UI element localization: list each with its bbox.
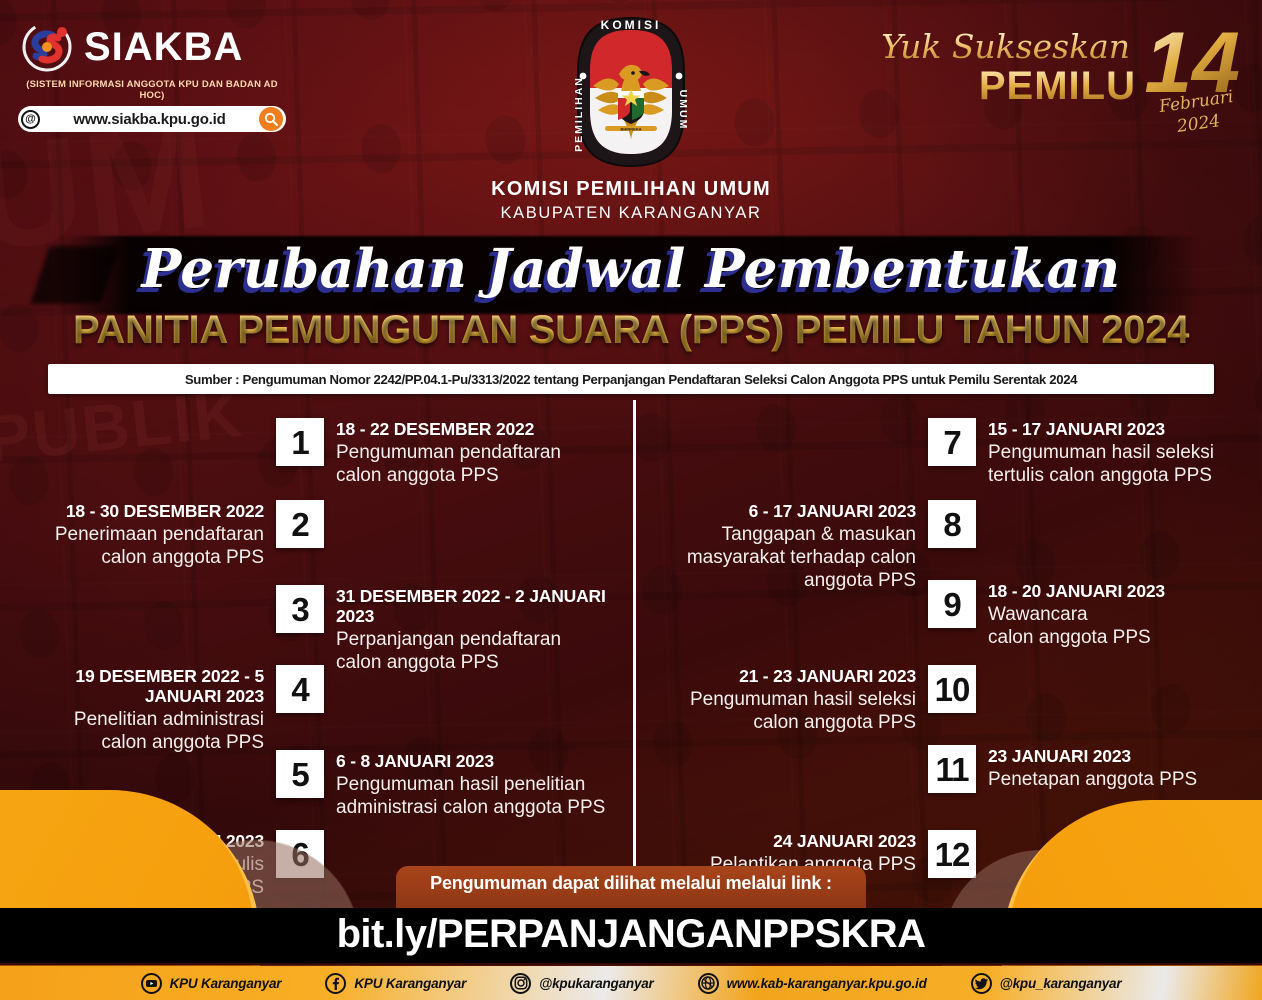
svg-text:BHINNEKA: BHINNEKA bbox=[620, 127, 641, 132]
timeline-item-7: 715 - 17 JANUARI 2023Pengumuman hasil se… bbox=[928, 418, 1214, 487]
timeline-description: Pengumuman hasil seleksicalon anggota PP… bbox=[690, 688, 916, 734]
center-divider bbox=[633, 400, 636, 895]
svg-text:UMUM: UMUM bbox=[677, 90, 689, 131]
timeline-text: 15 - 17 JANUARI 2023Pengumuman hasil sel… bbox=[988, 418, 1214, 487]
facebook-icon bbox=[325, 973, 346, 994]
footer-social-label: KPU Karanganyar bbox=[170, 976, 282, 991]
timeline-date: 23 JANUARI 2023 bbox=[988, 746, 1197, 766]
timeline-description: Penetapan anggota PPS bbox=[988, 768, 1197, 791]
kpu-title: KOMISI PEMILIHAN UMUM bbox=[0, 178, 1262, 201]
timeline-text: 6 - 8 JANUARI 2023Pengumuman hasil penel… bbox=[336, 750, 605, 819]
website-icon bbox=[698, 973, 719, 994]
timeline-number-badge: 4 bbox=[276, 665, 324, 713]
timeline-number-badge: 8 bbox=[928, 500, 976, 548]
timeline-number-badge: 2 bbox=[276, 500, 324, 548]
timeline-description: Perpanjangan pendaftarancalon anggota PP… bbox=[336, 628, 628, 674]
kpu-logo-icon: KOMISI PEMILIHAN UMUM bbox=[568, 14, 694, 172]
footer-social-label: @kpu_karanganyar bbox=[1000, 976, 1122, 991]
footer-social-label: www.kab-karanganyar.kpu.go.id bbox=[727, 976, 927, 991]
timeline-item-9: 918 - 20 JANUARI 2023Wawancaracalon angg… bbox=[928, 580, 1165, 649]
timeline-text: 18 - 20 JANUARI 2023Wawancaracalon anggo… bbox=[988, 580, 1165, 649]
timeline-date: 31 DESEMBER 2022 - 2 JANUARI 2023 bbox=[336, 586, 628, 626]
timeline-item-5: 56 - 8 JANUARI 2023Pengumuman hasil pene… bbox=[276, 750, 605, 819]
pemilu-badge: Yuk Sukseskan PEMILU 14 Februari 2024 bbox=[938, 14, 1248, 139]
timeline-date: 19 DESEMBER 2022 - 5 JANUARI 2023 bbox=[0, 666, 264, 706]
poster-root: UM PUBLIK SIAKBA (SISTEM INFORMASI ANGGO… bbox=[0, 0, 1262, 1000]
footer-social-item[interactable]: @kpu_karanganyar bbox=[971, 973, 1122, 994]
timeline-description: Wawancaracalon anggota PPS bbox=[988, 603, 1165, 649]
timeline-text: 23 JANUARI 2023Penetapan anggota PPS bbox=[988, 745, 1197, 791]
footer-social-label: KPU Karanganyar bbox=[354, 976, 466, 991]
footer-social-item[interactable]: www.kab-karanganyar.kpu.go.id bbox=[698, 973, 927, 994]
svg-text:PEMILIHAN: PEMILIHAN bbox=[573, 76, 585, 152]
timeline-item-1: 118 - 22 DESEMBER 2022Pengumuman pendaft… bbox=[276, 418, 561, 487]
timeline-item-8: 86 - 17 JANUARI 2023Tanggapan & masukanm… bbox=[687, 500, 976, 593]
timeline-text: 19 DESEMBER 2022 - 5 JANUARI 2023Penelit… bbox=[0, 665, 264, 755]
source-text: Sumber : Pengumuman Nomor 2242/PP.04.1-P… bbox=[185, 372, 1077, 387]
footer-social-item[interactable]: @kpukaranganyar bbox=[510, 973, 653, 994]
timeline-number-badge: 10 bbox=[928, 665, 976, 713]
kpu-subtitle: KABUPATEN KARANGANYAR bbox=[0, 204, 1262, 223]
headline-line-2: PANITIA PEMUNGUTAN SUARA (PPS) PEMILU TA… bbox=[0, 308, 1262, 353]
timeline-text: 18 - 30 DESEMBER 2022Penerimaan pendafta… bbox=[55, 500, 264, 569]
timeline-number-badge: 7 bbox=[928, 418, 976, 466]
headline-line-1: Perubahan Jadwal Pembentukan bbox=[0, 238, 1262, 300]
timeline-item-4: 419 DESEMBER 2022 - 5 JANUARI 2023Peneli… bbox=[0, 665, 324, 755]
timeline-text: 6 - 17 JANUARI 2023Tanggapan & masukanma… bbox=[687, 500, 916, 593]
timeline-description: Penerimaan pendaftarancalon anggota PPS bbox=[55, 523, 264, 569]
twitter-icon bbox=[971, 973, 992, 994]
timeline-date: 21 - 23 JANUARI 2023 bbox=[690, 666, 916, 686]
footer-social-bar: KPU KaranganyarKPU Karanganyar@kpukarang… bbox=[0, 966, 1262, 1000]
timeline-date: 18 - 30 DESEMBER 2022 bbox=[55, 501, 264, 521]
timeline-number-badge: 5 bbox=[276, 750, 324, 798]
svg-text:KOMISI: KOMISI bbox=[601, 18, 662, 32]
source-bar: Sumber : Pengumuman Nomor 2242/PP.04.1-P… bbox=[48, 364, 1214, 394]
footer-social-label: @kpukaranganyar bbox=[539, 976, 653, 991]
timeline-date: 15 - 17 JANUARI 2023 bbox=[988, 419, 1214, 439]
timeline-description: Tanggapan & masukanmasyarakat terhadap c… bbox=[687, 523, 916, 593]
link-section: Pengumuman dapat dilihat melalui melalui… bbox=[0, 866, 1262, 965]
timeline-text: 18 - 22 DESEMBER 2022Pengumuman pendafta… bbox=[336, 418, 561, 487]
timeline-description: Pengumuman hasil seleksitertulis calon a… bbox=[988, 441, 1214, 487]
timeline-date: 18 - 22 DESEMBER 2022 bbox=[336, 419, 561, 439]
timeline-number-badge: 1 bbox=[276, 418, 324, 466]
timeline-number-badge: 11 bbox=[928, 745, 976, 793]
timeline-date: 18 - 20 JANUARI 2023 bbox=[988, 581, 1165, 601]
timeline-date: 6 - 8 JANUARI 2023 bbox=[336, 751, 605, 771]
timeline-text: 21 - 23 JANUARI 2023Pengumuman hasil sel… bbox=[690, 665, 916, 734]
pemilu-word: PEMILU bbox=[979, 66, 1136, 106]
link-url-text: bit.ly/PERPANJANGANPPSKRA bbox=[337, 912, 926, 956]
link-url-bar[interactable]: bit.ly/PERPANJANGANPPSKRA bbox=[0, 908, 1262, 965]
timeline-number-badge: 9 bbox=[928, 580, 976, 628]
youtube-icon bbox=[141, 973, 162, 994]
timeline-number-badge: 3 bbox=[276, 585, 324, 633]
pemilu-script-line: Yuk Sukseskan bbox=[881, 30, 1130, 63]
timeline-item-3: 331 DESEMBER 2022 - 2 JANUARI 2023Perpan… bbox=[276, 585, 628, 675]
timeline-date: 6 - 17 JANUARI 2023 bbox=[687, 501, 916, 521]
timeline-description: Pengumuman hasil penelitianadministrasi … bbox=[336, 773, 605, 819]
footer-social-item[interactable]: KPU Karanganyar bbox=[141, 973, 282, 994]
timeline-description: Penelitian administrasicalon anggota PPS bbox=[0, 708, 264, 754]
pemilu-year: 2024 bbox=[1176, 111, 1222, 137]
timeline-item-10: 1021 - 23 JANUARI 2023Pengumuman hasil s… bbox=[690, 665, 976, 734]
link-caption: Pengumuman dapat dilihat melalui melalui… bbox=[396, 866, 866, 908]
timeline-description: Pengumuman pendaftarancalon anggota PPS bbox=[336, 441, 561, 487]
instagram-icon bbox=[510, 973, 531, 994]
timeline-text: 31 DESEMBER 2022 - 2 JANUARI 2023Perpanj… bbox=[336, 585, 628, 675]
timeline-date: 24 JANUARI 2023 bbox=[710, 831, 916, 851]
footer-social-item[interactable]: KPU Karanganyar bbox=[325, 973, 466, 994]
timeline-item-2: 218 - 30 DESEMBER 2022Penerimaan pendaft… bbox=[55, 500, 324, 569]
timeline-item-11: 1123 JANUARI 2023Penetapan anggota PPS bbox=[928, 745, 1197, 793]
